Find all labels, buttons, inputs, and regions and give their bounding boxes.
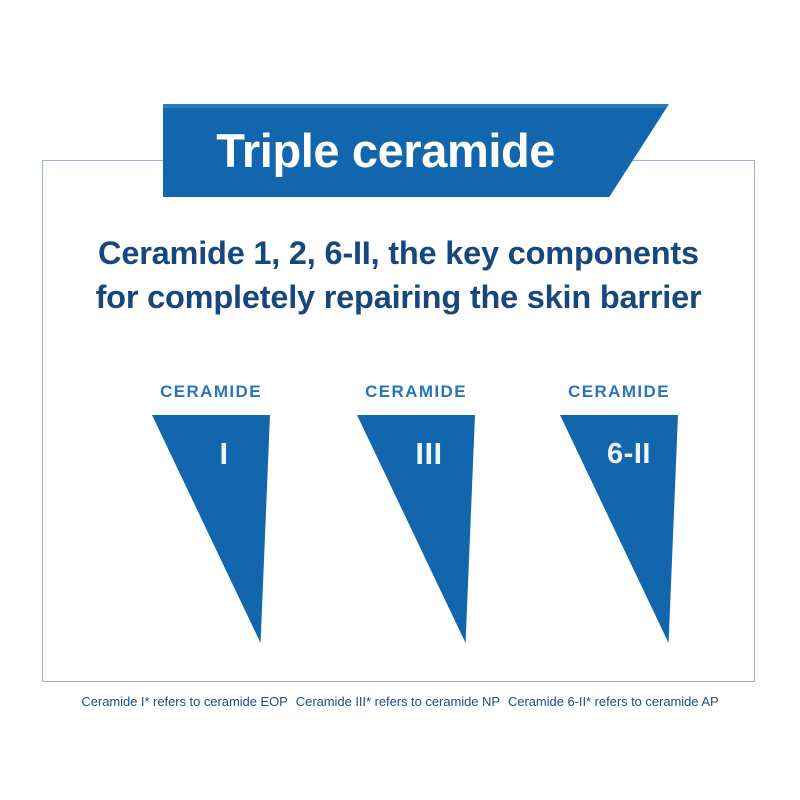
headline: Ceramide 1, 2, 6-II, the key components … [42,232,755,319]
ceramide-caption-1: CERAMIDE [126,382,296,402]
ceramide-infographic: Triple ceramide Ceramide 1, 2, 6-II, the… [0,0,800,800]
ceramide-item-1: CERAMIDE I [126,382,296,650]
ceramide-label-2: III [357,415,475,493]
banner-ribbon: Triple ceramide [163,104,669,197]
ceramide-item-3: CERAMIDE 6-II [534,382,704,650]
ceramide-item-2: CERAMIDE III [331,382,501,650]
headline-line-1: Ceramide 1, 2, 6-II, the key components [42,232,755,276]
ceramide-caption-3: CERAMIDE [534,382,704,402]
banner-title: Triple ceramide [163,104,608,197]
headline-line-2: for completely repairing the skin barrie… [42,276,755,320]
footnote-part-2: Ceramide III* refers to ceramide NP [296,694,500,709]
ceramide-label-3: 6-II [560,415,678,493]
ceramide-label-1: I [152,415,270,493]
ceramide-caption-2: CERAMIDE [331,382,501,402]
footnote-part-1: Ceramide I* refers to ceramide EOP [81,694,287,709]
footnote-part-3: Ceramide 6-II* refers to ceramide AP [508,694,719,709]
ceramide-triangle-row: CERAMIDE I CERAMIDE III CERAMIDE 6-II [42,382,755,652]
footnote: Ceramide I* refers to ceramide EOPCerami… [0,694,800,709]
